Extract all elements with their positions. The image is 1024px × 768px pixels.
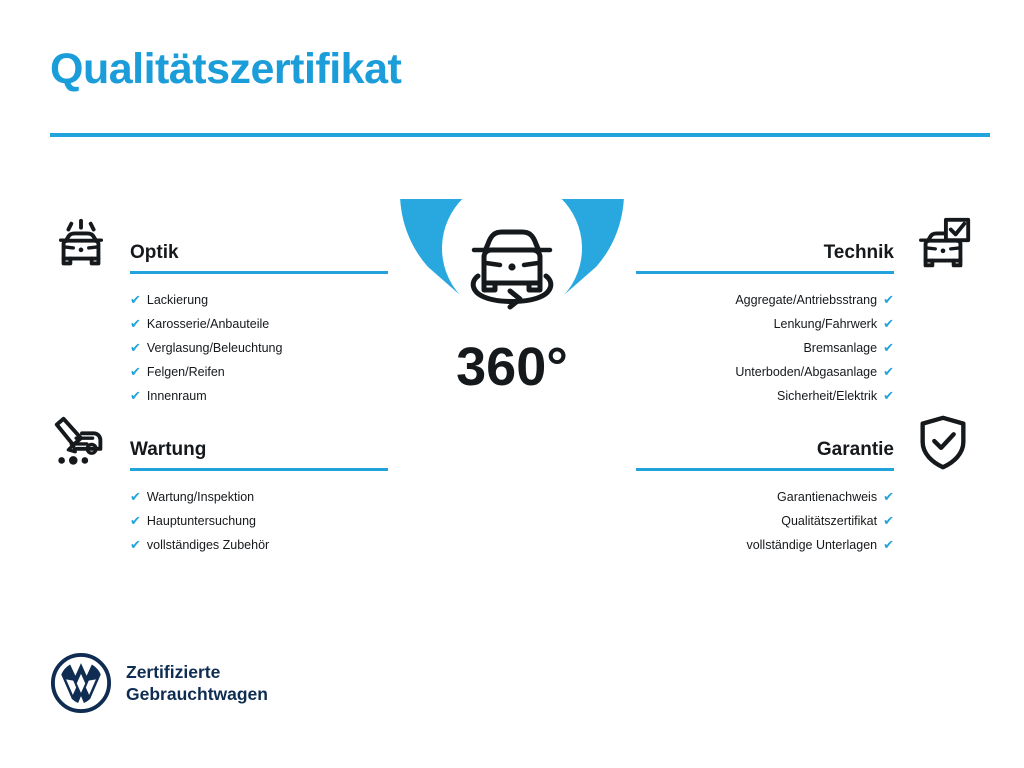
- section-optik-divider: [130, 271, 388, 274]
- section-technik: Technik Aggregate/Antriebsstrang ✔ Lenku…: [636, 240, 894, 408]
- list-item-label: Wartung/Inspektion: [147, 485, 254, 509]
- section-garantie-header: Garantie: [636, 437, 894, 473]
- list-item: ✔ Wartung/Inspektion: [130, 485, 388, 509]
- list-item: ✔ Innenraum: [130, 384, 388, 408]
- list-item: vollständige Unterlagen ✔: [636, 533, 894, 557]
- check-icon: ✔: [883, 485, 894, 509]
- section-optik: Optik ✔ Lackierung ✔ Karosserie/Anbautei…: [130, 240, 388, 408]
- list-item-label: Bremsanlage: [803, 336, 877, 360]
- list-item: ✔ Verglasung/Beleuchtung: [130, 336, 388, 360]
- section-optik-list: ✔ Lackierung ✔ Karosserie/Anbauteile ✔ V…: [130, 288, 388, 408]
- list-item: Qualitätszertifikat ✔: [636, 509, 894, 533]
- list-item: ✔ Lackierung: [130, 288, 388, 312]
- list-item-label: Innenraum: [147, 384, 207, 408]
- badge-360-gebrauchtwagen-check: Gebrauchtwagen-Check 360°: [371, 199, 653, 491]
- section-wartung-list: ✔ Wartung/Inspektion ✔ Hauptuntersuchung…: [130, 485, 388, 557]
- check-icon: ✔: [130, 509, 141, 533]
- volkswagen-logo: [50, 652, 112, 714]
- section-garantie-divider: [636, 468, 894, 471]
- list-item-label: Unterboden/Abgasanlage: [735, 360, 877, 384]
- list-item-label: Hauptuntersuchung: [147, 509, 256, 533]
- list-item-label: Lackierung: [147, 288, 208, 312]
- list-item: ✔ Karosserie/Anbauteile: [130, 312, 388, 336]
- section-wartung-divider: [130, 468, 388, 471]
- badge-center-label: 360°: [456, 337, 568, 397]
- section-optik-header: Optik: [130, 240, 388, 276]
- check-icon: ✔: [883, 288, 894, 312]
- section-technik-title: Technik: [636, 240, 894, 266]
- section-technik-divider: [636, 271, 894, 274]
- list-item-label: vollständiges Zubehör: [147, 533, 269, 557]
- list-item-label: Felgen/Reifen: [147, 360, 225, 384]
- section-wartung-header: Wartung: [130, 437, 388, 473]
- check-icon: ✔: [130, 336, 141, 360]
- section-wartung: Wartung ✔ Wartung/Inspektion ✔ Hauptunte…: [130, 437, 388, 557]
- list-item-label: Aggregate/Antriebsstrang: [735, 288, 877, 312]
- check-icon: ✔: [130, 360, 141, 384]
- list-item: Garantienachweis ✔: [636, 485, 894, 509]
- shield-check-icon: [912, 412, 974, 474]
- section-technik-header: Technik: [636, 240, 894, 276]
- list-item-label: Qualitätszertifikat: [781, 509, 877, 533]
- check-icon: ✔: [883, 384, 894, 408]
- check-icon: ✔: [883, 533, 894, 557]
- list-item-label: vollständige Unterlagen: [746, 533, 877, 557]
- check-icon: ✔: [883, 336, 894, 360]
- section-technik-list: Aggregate/Antriebsstrang ✔ Lenkung/Fahrw…: [636, 288, 894, 408]
- footer-logo-text: Zertifizierte Gebrauchtwagen: [126, 661, 268, 705]
- list-item: ✔ Hauptuntersuchung: [130, 509, 388, 533]
- check-icon: ✔: [130, 288, 141, 312]
- certificate-page: Qualitätszertifikat Optik ✔ Lackierung: [0, 0, 1024, 768]
- list-item: Sicherheit/Elektrik ✔: [636, 384, 894, 408]
- car-rotate-icon: [473, 232, 551, 307]
- list-item-label: Garantienachweis: [777, 485, 877, 509]
- list-item: Aggregate/Antriebsstrang ✔: [636, 288, 894, 312]
- section-optik-title: Optik: [130, 240, 388, 266]
- footer-logo-line1: Zertifizierte: [126, 661, 268, 683]
- list-item: Lenkung/Fahrwerk ✔: [636, 312, 894, 336]
- list-item: ✔ vollständiges Zubehör: [130, 533, 388, 557]
- car-checkbox-icon: [912, 214, 974, 276]
- list-item: Bremsanlage ✔: [636, 336, 894, 360]
- check-icon: ✔: [130, 533, 141, 557]
- check-icon: ✔: [130, 384, 141, 408]
- section-garantie-title: Garantie: [636, 437, 894, 463]
- badge-ring: [400, 199, 624, 295]
- footer-logo: Zertifizierte Gebrauchtwagen: [50, 652, 268, 714]
- check-icon: ✔: [883, 360, 894, 384]
- list-item: Unterboden/Abgasanlage ✔: [636, 360, 894, 384]
- list-item-label: Karosserie/Anbauteile: [147, 312, 269, 336]
- check-icon: ✔: [130, 312, 141, 336]
- list-item-label: Verglasung/Beleuchtung: [147, 336, 283, 360]
- footer-logo-line2: Gebrauchtwagen: [126, 683, 268, 705]
- list-item-label: Sicherheit/Elektrik: [777, 384, 877, 408]
- check-icon: ✔: [130, 485, 141, 509]
- page-title: Qualitätszertifikat: [50, 46, 401, 93]
- list-item: ✔ Felgen/Reifen: [130, 360, 388, 384]
- section-garantie-list: Garantienachweis ✔ Qualitätszertifikat ✔…: [636, 485, 894, 557]
- car-shine-icon: [50, 214, 112, 276]
- list-item-label: Lenkung/Fahrwerk: [774, 312, 878, 336]
- check-icon: ✔: [883, 312, 894, 336]
- header-divider: [50, 133, 990, 137]
- check-icon: ✔: [883, 509, 894, 533]
- section-wartung-title: Wartung: [130, 437, 388, 463]
- pencil-car-icon: [50, 412, 112, 474]
- section-garantie: Garantie Garantienachweis ✔ Qualitätszer…: [636, 437, 894, 557]
